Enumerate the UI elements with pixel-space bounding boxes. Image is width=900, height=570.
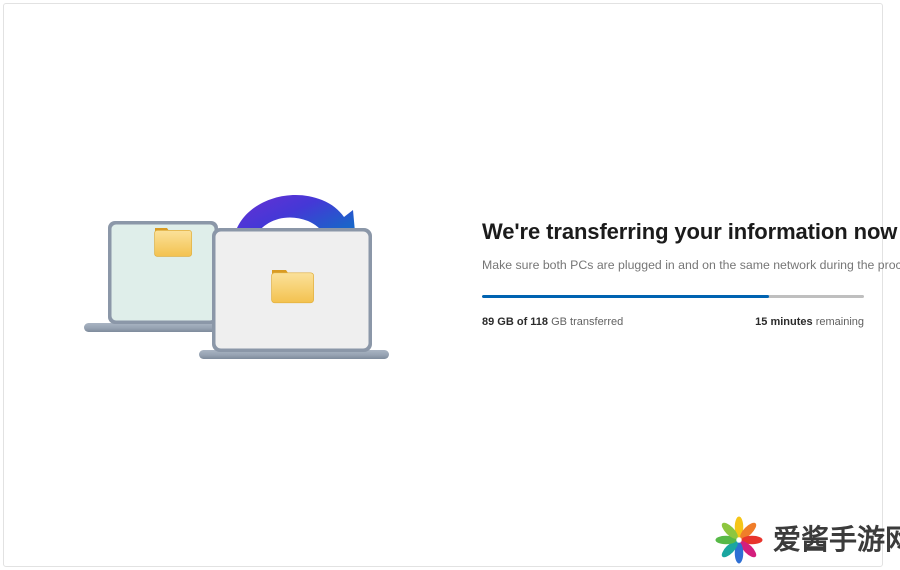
transfer-content: We're transferring your information now … (482, 218, 864, 330)
screen-root: We're transferring your information now … (0, 0, 900, 570)
transferred-label: GB transferred (548, 316, 623, 328)
remaining-label: remaining (813, 316, 864, 328)
page-title: We're transferring your information now (482, 218, 864, 246)
remaining-time: 15 minutes (755, 316, 812, 328)
transferred-status: 89 GB of 118 GB transferred (482, 315, 623, 330)
site-watermark: 爱酱手游网 (714, 515, 900, 565)
source-folder (155, 228, 192, 256)
eight-petal-flower-icon (714, 515, 764, 565)
two-laptops-transfer-illustration (74, 182, 404, 374)
progress-bar (482, 295, 864, 298)
remaining-status: 15 minutes remaining (755, 315, 864, 330)
progress-bar-fill (482, 295, 769, 298)
setup-window: We're transferring your information now … (3, 3, 883, 567)
target-laptop (199, 228, 389, 359)
page-subtitle: Make sure both PCs are plugged in and on… (482, 257, 864, 274)
watermark-text: 爱酱手游网 (773, 525, 900, 555)
progress-status-row: 89 GB of 118 GB transferred 15 minutes r… (482, 315, 864, 330)
transferred-amount: 89 GB of 118 (482, 316, 548, 328)
source-laptop (84, 221, 224, 332)
target-folder (272, 270, 314, 303)
